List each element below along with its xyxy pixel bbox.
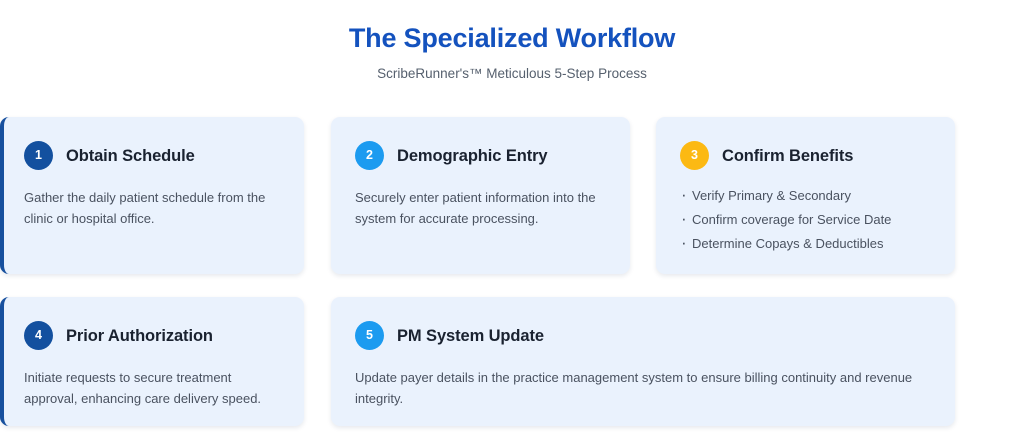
step-title-2: Demographic Entry [397,146,548,166]
step-card-2[interactable]: 2 Demographic Entry Securely enter patie… [331,117,630,274]
step-bullet-list-3: Verify Primary & Secondary Confirm cover… [680,185,933,254]
page-header: The Specialized Workflow ScribeRunner's™… [0,0,1024,84]
list-item: Confirm coverage for Service Date [680,209,933,230]
page-title: The Specialized Workflow [0,22,1024,54]
step-title-4: Prior Authorization [66,326,213,346]
step-card-4-header: 4 Prior Authorization [24,321,282,350]
step-number-badge-1: 1 [24,141,53,170]
step-card-4[interactable]: 4 Prior Authorization Initiate requests … [0,297,304,426]
step-number-badge-4: 4 [24,321,53,350]
step-card-2-inner: 2 Demographic Entry Securely enter patie… [331,117,630,229]
step-card-1-header: 1 Obtain Schedule [24,141,282,170]
step-title-3: Confirm Benefits [722,146,853,166]
step-title-5: PM System Update [397,326,544,346]
step-card-3-header: 3 Confirm Benefits [680,141,933,170]
step-title-1: Obtain Schedule [66,146,195,166]
steps-row-two: 4 Prior Authorization Initiate requests … [0,297,1024,426]
step-card-1-inner: 1 Obtain Schedule Gather the daily patie… [4,117,304,229]
step-card-1[interactable]: 1 Obtain Schedule Gather the daily patie… [0,117,304,274]
step-card-5[interactable]: 5 PM System Update Update payer details … [331,297,955,426]
step-description-4: Initiate requests to secure treatment ap… [24,367,276,409]
step-card-2-header: 2 Demographic Entry [355,141,608,170]
steps-row-one: 1 Obtain Schedule Gather the daily patie… [0,117,1024,274]
list-item: Verify Primary & Secondary [680,185,933,206]
step-card-5-header: 5 PM System Update [355,321,933,350]
step-number-badge-2: 2 [355,141,384,170]
step-description-2: Securely enter patient information into … [355,187,607,229]
step-number-badge-3: 3 [680,141,709,170]
step-card-3-inner: 3 Confirm Benefits Verify Primary & Seco… [656,117,955,254]
step-description-1: Gather the daily patient schedule from t… [24,187,276,229]
page-subtitle: ScribeRunner's™ Meticulous 5-Step Proces… [0,64,1024,84]
step-number-badge-5: 5 [355,321,384,350]
step-card-4-inner: 4 Prior Authorization Initiate requests … [4,297,304,409]
workflow-page: The Specialized Workflow ScribeRunner's™… [0,0,1024,446]
step-card-5-inner: 5 PM System Update Update payer details … [331,297,955,409]
step-description-5: Update payer details in the practice man… [355,367,933,409]
list-item: Determine Copays & Deductibles [680,233,933,254]
step-card-3[interactable]: 3 Confirm Benefits Verify Primary & Seco… [656,117,955,274]
